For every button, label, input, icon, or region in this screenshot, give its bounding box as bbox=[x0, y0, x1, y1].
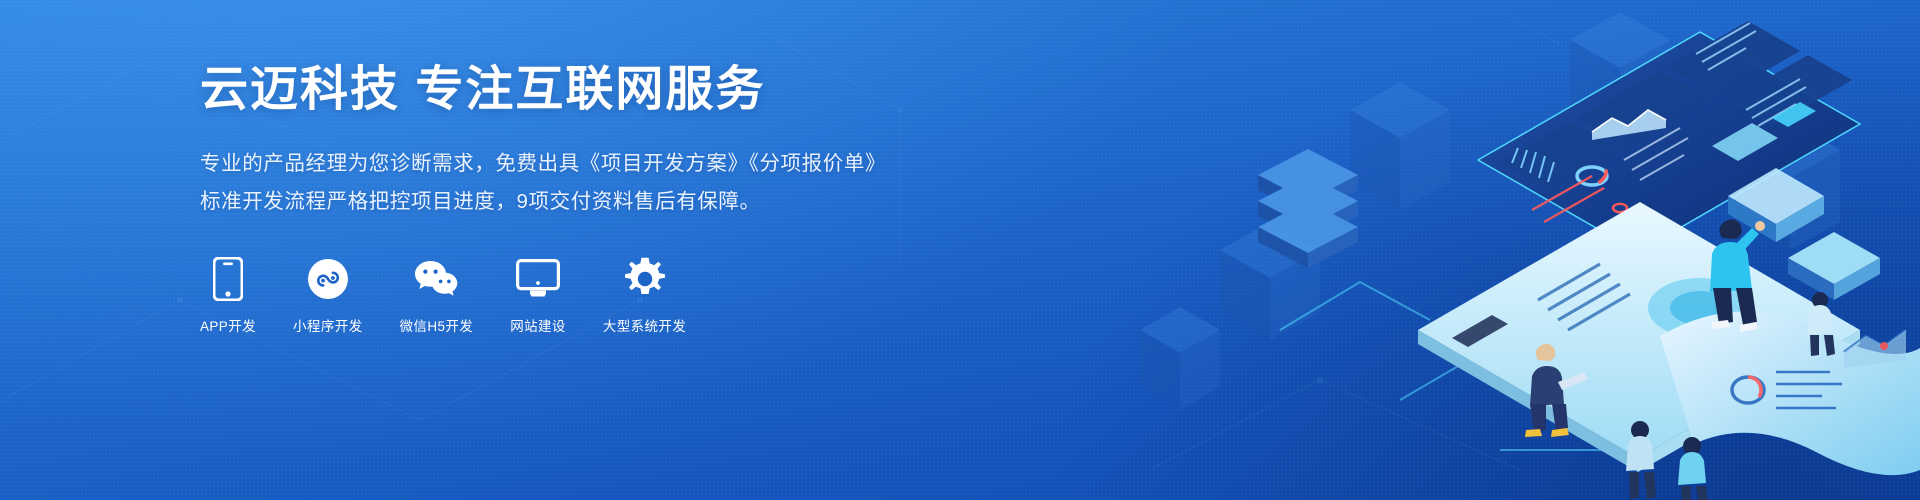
hero-banner: 云迈科技 专注互联网服务 专业的产品经理为您诊断需求，免费出具《项目开发方案》《… bbox=[0, 0, 1920, 500]
gear-icon bbox=[622, 256, 668, 302]
subtitle-line-1: 专业的产品经理为您诊断需求，免费出具《项目开发方案》《分项报价单》 bbox=[200, 145, 920, 184]
banner-content: 云迈科技 专注互联网服务 专业的产品经理为您诊断需求，免费出具《项目开发方案》《… bbox=[200, 62, 920, 335]
service-label-miniprogram: 小程序开发 bbox=[293, 315, 363, 335]
service-icon-list: APP开发 小程序开发 bbox=[200, 256, 920, 335]
service-item-wechat[interactable]: 微信H5开发 bbox=[400, 256, 474, 335]
service-item-miniprogram[interactable]: 小程序开发 bbox=[293, 256, 363, 335]
monitor-icon bbox=[515, 256, 561, 302]
service-item-website[interactable]: 网站建设 bbox=[510, 256, 566, 335]
wechat-icon bbox=[413, 256, 459, 302]
subtitle-line-2: 标准开发流程严格把控项目进度，9项交付资料售后有保障。 bbox=[200, 183, 920, 222]
service-label-system: 大型系统开发 bbox=[603, 315, 686, 335]
isometric-data-dashboard-illustration bbox=[1100, 0, 1920, 500]
page-title: 云迈科技 专注互联网服务 bbox=[200, 62, 920, 119]
mini-program-icon bbox=[305, 256, 351, 302]
subtitle-block: 专业的产品经理为您诊断需求，免费出具《项目开发方案》《分项报价单》 标准开发流程… bbox=[200, 145, 920, 222]
service-item-system[interactable]: 大型系统开发 bbox=[603, 256, 686, 335]
service-label-website: 网站建设 bbox=[510, 315, 566, 335]
service-label-wechat: 微信H5开发 bbox=[400, 315, 474, 335]
service-label-app: APP开发 bbox=[200, 315, 256, 335]
service-item-app[interactable]: APP开发 bbox=[200, 256, 256, 335]
mobile-phone-icon bbox=[205, 256, 251, 302]
